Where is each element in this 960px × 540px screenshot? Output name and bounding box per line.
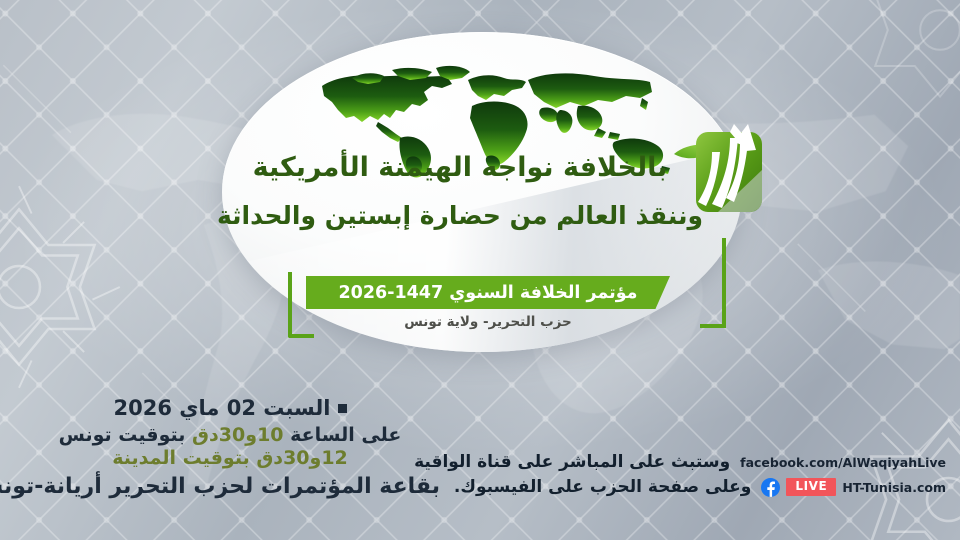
facebook-icon[interactable] <box>761 478 780 497</box>
leaf-arrow-logo-icon <box>672 118 776 226</box>
facebook-live-group: LIVE HT-Tunisia.com <box>761 478 946 497</box>
bullet-square-icon <box>338 404 347 413</box>
time-prefix: على الساعة <box>290 424 401 446</box>
arabesque-ornament-left <box>0 182 124 392</box>
broadcast-line-1: وستبث على المباشر على قناة الواقية <box>414 452 730 472</box>
ht-tunisia-url[interactable]: HT-Tunisia.com <box>842 480 946 495</box>
headline-line-1: بالخلافة نواجه الهيمنة الأمريكية <box>200 152 720 185</box>
time-suffix-tunis: بتوقيت تونس <box>59 424 186 446</box>
conference-poster: بالخلافة نواجه الهيمنة الأمريكية وننقذ ا… <box>0 0 960 540</box>
event-date: السبت 02 ماي 2026 <box>113 396 330 420</box>
time-value-tunis: 10و30دق <box>192 424 283 446</box>
event-time-tunis: على الساعة 10و30دق بتوقيت تونس <box>20 424 440 446</box>
ribbon-label: مؤتمر الخلافة السنوي 1447-2026 <box>338 283 637 303</box>
page-title: بالخلافة نواجه الهيمنة الأمريكية وننقذ ا… <box>200 152 720 231</box>
broadcast-line-2: وعلى صفحة الحزب على الفيسبوك. <box>454 477 751 497</box>
headline-line-2: وننقذ العالم من حضارة إبستين والحداثة <box>200 201 720 231</box>
event-date-row: السبت 02 ماي 2026 <box>20 396 440 420</box>
event-venue: بقاعة المؤتمرات لحزب التحرير أريانة-تونس <box>20 474 440 499</box>
ribbon-subtitle: حزب التحرير- ولاية تونس <box>306 314 670 330</box>
live-badge: LIVE <box>786 478 836 496</box>
arabesque-ornament-top-right <box>850 0 960 120</box>
broadcast-row-2: LIVE HT-Tunisia.com وعلى صفحة الحزب على … <box>466 477 946 497</box>
broadcast-row-1: facebook.com/AlWaqiyahLive وستبث على الم… <box>466 452 946 472</box>
broadcast-info: facebook.com/AlWaqiyahLive وستبث على الم… <box>466 452 946 497</box>
facebook-url[interactable]: facebook.com/AlWaqiyahLive <box>740 455 946 470</box>
event-details: السبت 02 ماي 2026 على الساعة 10و30دق بتو… <box>20 396 440 499</box>
event-time-madina: 12و30دق بتوقيت المدينة <box>20 447 440 469</box>
conference-ribbon: مؤتمر الخلافة السنوي 1447-2026 <box>306 276 670 309</box>
